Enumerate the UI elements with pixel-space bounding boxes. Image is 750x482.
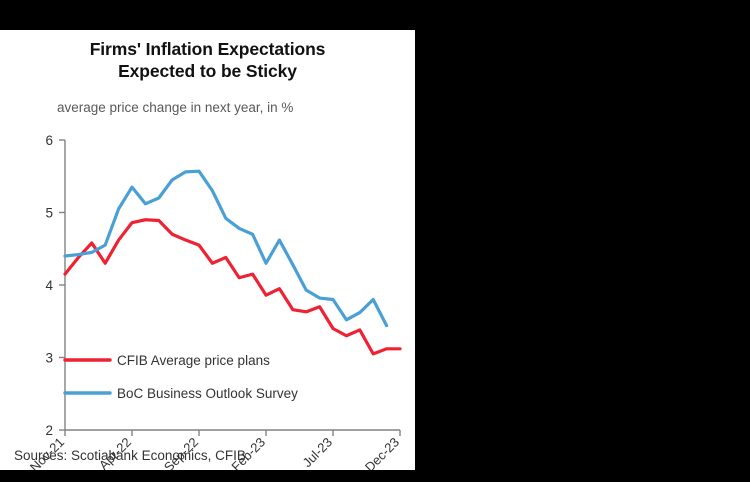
x-axis-tick-label: Jul-23 [299, 435, 335, 470]
legend-label: CFIB Average price plans [117, 353, 270, 368]
series-lines [65, 171, 400, 354]
chart-legend: CFIB Average price plansBoC Business Out… [65, 353, 298, 401]
y-axis-tick-label: 4 [45, 278, 53, 293]
chart-panel: Firms' Inflation Expectations Expected t… [0, 30, 415, 470]
y-axis: 23456 [45, 133, 65, 438]
y-axis-tick-label: 2 [45, 423, 53, 438]
y-axis-tick-label: 6 [45, 133, 53, 148]
line-chart-plot: 23456 Nov-21Apr-22Sep-22Feb-23Jul-23Dec-… [0, 30, 415, 470]
y-axis-tick-label: 5 [45, 206, 53, 221]
series-line [65, 220, 400, 354]
x-axis-tick-label: Dec-23 [362, 435, 402, 470]
source-note: Sources: Scotiabank Economics, CFIB. [14, 448, 250, 463]
y-axis-tick-label: 3 [45, 351, 53, 366]
legend-label: BoC Business Outlook Survey [117, 386, 298, 401]
